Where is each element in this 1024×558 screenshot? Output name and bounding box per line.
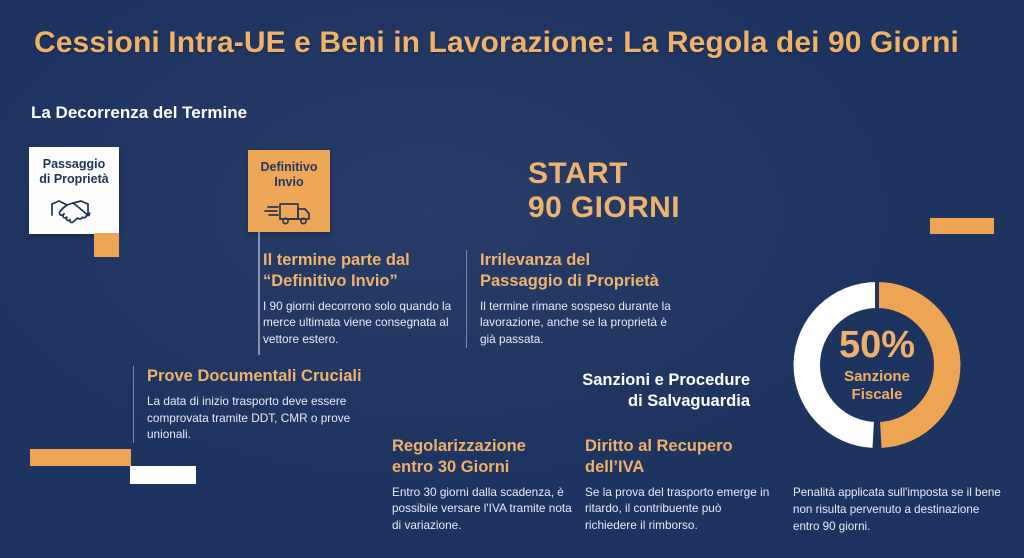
sanctions-heading-line1: Sanzioni e Procedure (582, 371, 750, 389)
block-body: I 90 giorni decorrono solo quando la mer… (263, 298, 463, 348)
block-body: Entro 30 giorni dalla scadenza, è possib… (392, 484, 572, 534)
block-diritto-recupero-iva: Diritto al Recupero dell’IVA Se la prova… (585, 436, 775, 534)
card-title-line2: Invio (274, 175, 303, 189)
block-prove-documentali: Prove Documentali Cruciali La data di in… (133, 366, 388, 443)
handshake-icon (48, 194, 100, 231)
sanctions-heading-line2: di Salvaguardia (628, 392, 750, 410)
block-termine-parte-dal: Il termine parte dal “Definitivo Invio” … (263, 250, 463, 348)
connector-line-definitivo-invio (258, 232, 260, 355)
block-body: Se la prova del trasporto emerge in rita… (585, 484, 775, 534)
decor-bar-orange-bottom-left (30, 449, 131, 466)
block-heading-line1: Regolarizzazione (392, 437, 526, 455)
infographic-canvas: Cessioni Intra-UE e Beni in Lavorazione:… (0, 0, 1024, 558)
card-title-line1: Definitivo (261, 160, 318, 174)
decor-bar-white-bottom-left (130, 466, 196, 484)
block-heading-line1: Irrilevanza del (480, 251, 590, 269)
block-regolarizzazione-30-giorni: Regolarizzazione entro 30 Giorni Entro 3… (392, 436, 572, 534)
donut-sublabel-line1: Sanzione (844, 368, 910, 385)
block-body: La data di inizio trasporto deve essere … (147, 393, 388, 443)
block-heading-line2: Passaggio di Proprietà (480, 272, 659, 290)
donut-caption: Penalità applicata sull'imposta se il be… (793, 485, 1003, 535)
decor-bar-orange-right (930, 218, 994, 234)
block-heading-line1: Diritto al Recupero (585, 437, 733, 455)
block-heading-line2: dell’IVA (585, 458, 644, 476)
delivery-truck-icon (264, 197, 314, 232)
card-definitivo-invio: Definitivo Invio (248, 150, 330, 232)
start-marker: START 90 GIORNI (528, 157, 680, 224)
card-title-line1: Passaggio (43, 157, 106, 171)
donut-sublabel-line2: Fiscale (852, 386, 903, 403)
donut-center-label: 50% Sanzione Fiscale (784, 272, 970, 458)
start-marker-line2: 90 GIORNI (528, 191, 680, 224)
block-body: Il termine rimane sospeso durante la lav… (480, 298, 681, 348)
start-marker-line1: START (528, 157, 628, 190)
page-title: Cessioni Intra-UE e Beni in Lavorazione:… (34, 26, 959, 60)
card-accent-tab (94, 233, 119, 257)
block-heading-line2: “Definitivo Invio” (263, 272, 398, 290)
donut-sublabel: Sanzione Fiscale (844, 368, 910, 403)
section-label: La Decorrenza del Termine (31, 103, 247, 123)
block-irrilevanza-passaggio: Irrilevanza del Passaggio di Proprietà I… (466, 250, 681, 348)
block-heading-line1: Il termine parte dal (263, 251, 410, 269)
block-heading-line2: entro 30 Giorni (392, 458, 509, 476)
sanctions-heading: Sanzioni e Procedure di Salvaguardia (565, 370, 750, 412)
block-heading-line1: Prove Documentali Cruciali (147, 367, 362, 385)
card-passaggio-proprieta: Passaggio di Proprietà (29, 147, 119, 234)
card-title-line2: di Proprietà (39, 172, 108, 186)
donut-percentage: 50% (839, 326, 915, 364)
sanzione-fiscale-donut-chart: 50% Sanzione Fiscale (784, 272, 970, 458)
